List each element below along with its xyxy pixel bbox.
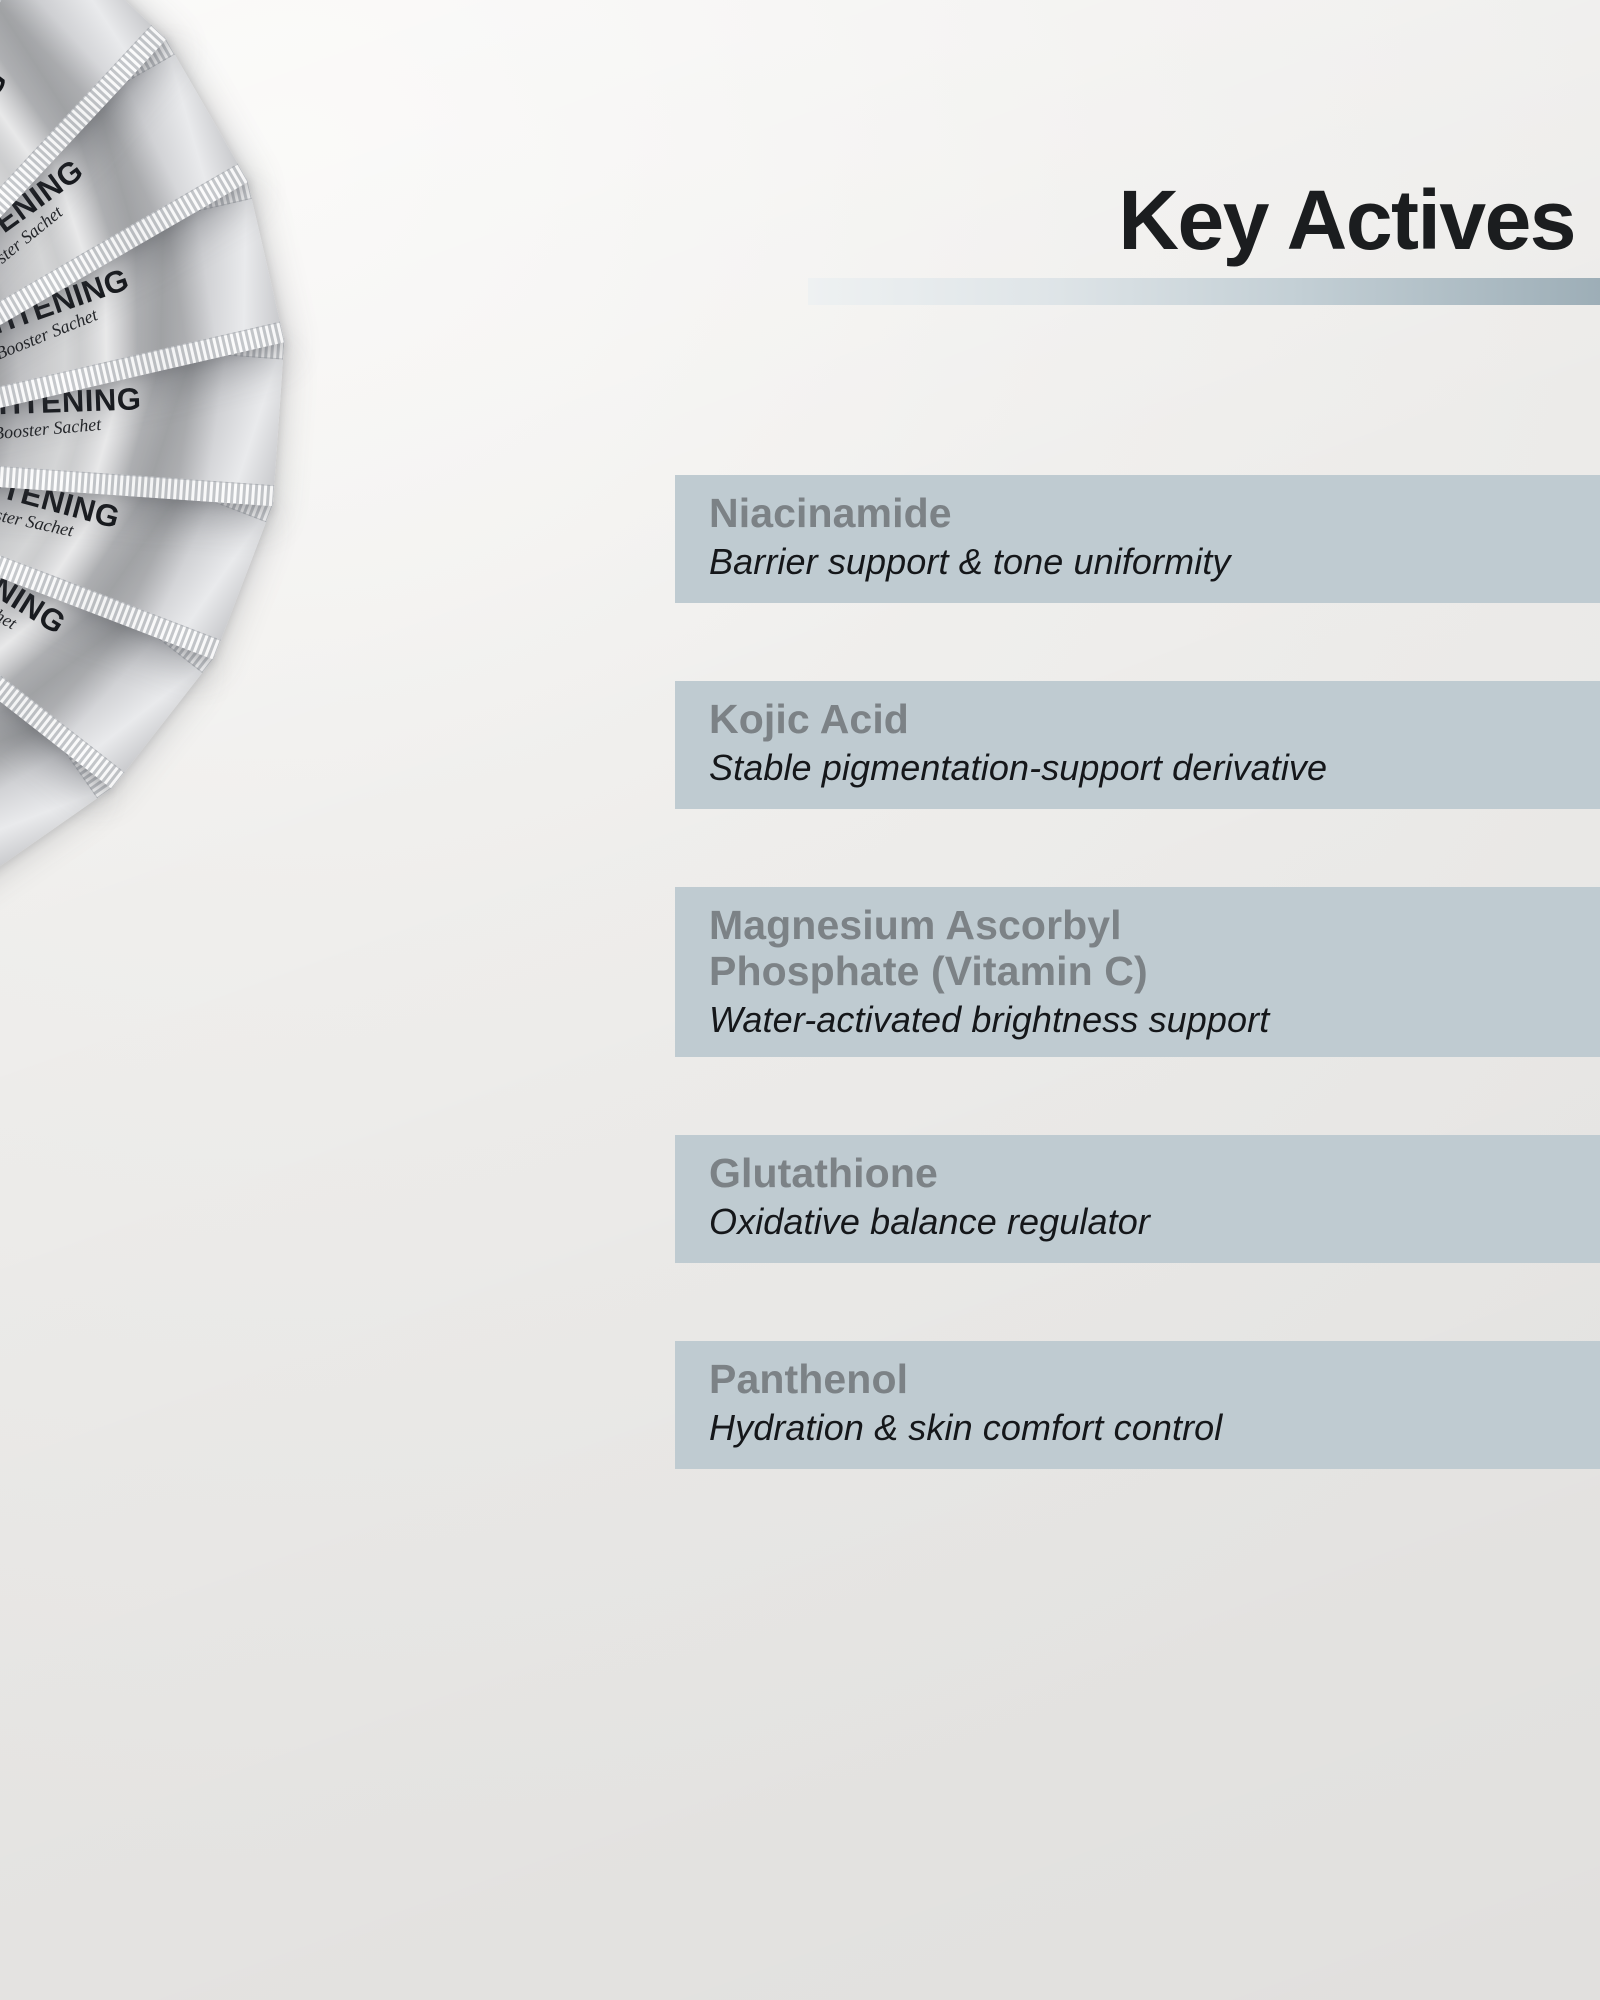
title-accent-bar — [808, 278, 1600, 305]
active-description: Stable pigmentation-support derivative — [709, 746, 1600, 789]
active-item: Magnesium AscorbylPhosphate (Vitamin C)W… — [675, 887, 1600, 1057]
active-description: Hydration & skin comfort control — [709, 1406, 1600, 1449]
active-item: GlutathioneOxidative balance regulator — [675, 1135, 1600, 1263]
page-title: Key Actives — [1118, 178, 1575, 262]
content-column: Key Actives NiacinamideBarrier support &… — [675, 0, 1600, 2000]
product-sachet-arrangement: D'traditionBRIGHTENINGBooster SachetMFG … — [0, 0, 780, 1700]
active-description: Barrier support & tone uniformity — [709, 540, 1600, 583]
active-description: Water-activated brightness support — [709, 998, 1600, 1041]
active-name: Kojic Acid — [709, 697, 1600, 743]
active-name: Glutathione — [709, 1151, 1600, 1197]
active-item: PanthenolHydration & skin comfort contro… — [675, 1341, 1600, 1469]
active-name: Panthenol — [709, 1357, 1600, 1403]
key-actives-list: NiacinamideBarrier support & tone unifor… — [675, 475, 1600, 1547]
active-item: Kojic AcidStable pigmentation-support de… — [675, 681, 1600, 809]
active-name: Niacinamide — [709, 491, 1600, 537]
active-name: Magnesium AscorbylPhosphate (Vitamin C) — [709, 903, 1600, 995]
active-item: NiacinamideBarrier support & tone unifor… — [675, 475, 1600, 603]
active-description: Oxidative balance regulator — [709, 1200, 1600, 1243]
